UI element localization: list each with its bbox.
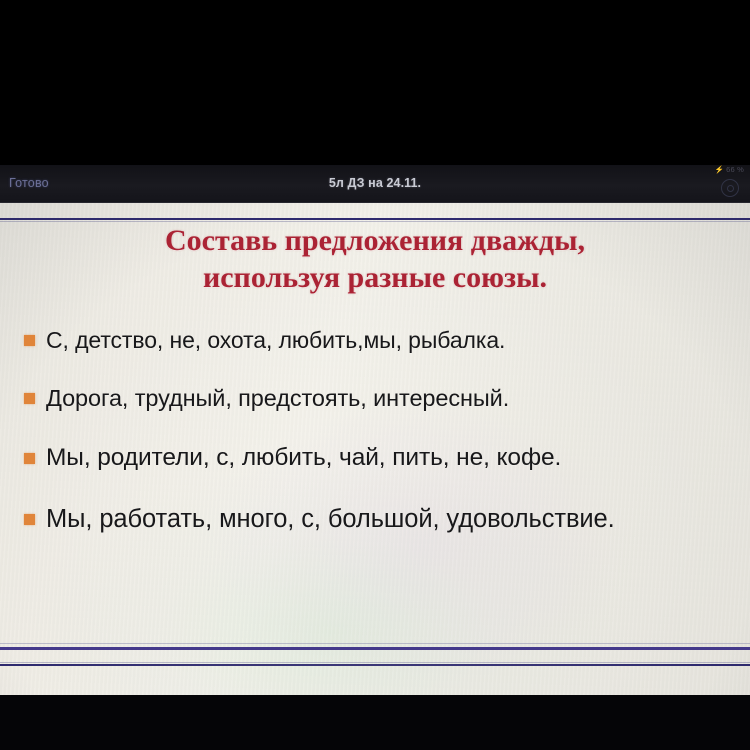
- circle-more-icon[interactable]: [721, 179, 739, 197]
- slide-bottom-hairline: [0, 643, 750, 644]
- slide-bullet-list: С, детство, не, охота, любить,мы, рыбалк…: [24, 325, 740, 562]
- slide-title: Составь предложения дважды, используя ра…: [30, 223, 720, 297]
- top-letterbox: [0, 0, 750, 165]
- square-bullet-icon: [24, 514, 35, 525]
- list-item: Мы, родители, с, любить, чай, пить, не, …: [24, 443, 740, 473]
- list-item-label: Дорога, трудный, предстоять, интересный.: [46, 385, 509, 412]
- square-bullet-icon: [24, 335, 35, 346]
- battery-percent-label: 66 %: [726, 165, 744, 174]
- list-item-label: Мы, работать, много, с, большой, удоволь…: [46, 505, 615, 534]
- list-item: С, детство, не, охота, любить,мы, рыбалк…: [24, 325, 740, 355]
- slide-title-line-2: используя разные союзы.: [30, 260, 720, 297]
- square-bullet-icon: [24, 453, 35, 464]
- app-navigation-bar: ⚡66 % Готово 5л ДЗ на 24.11.: [0, 165, 750, 203]
- battery-status: ⚡66 %: [715, 165, 744, 174]
- tablet-photo: ⚡66 % Готово 5л ДЗ на 24.11. Составь пре…: [0, 0, 750, 750]
- list-item-label: Мы, родители, с, любить, чай, пить, не, …: [46, 444, 561, 472]
- circle-more-icon-inner: [727, 185, 734, 192]
- slide-bottom-rule: [0, 647, 750, 650]
- list-item: Дорога, трудный, предстоять, интересный.: [24, 383, 740, 413]
- bolt-icon: ⚡: [715, 165, 725, 174]
- list-item-label: С, детство, не, охота, любить,мы, рыбалк…: [46, 327, 505, 354]
- list-item: Мы, работать, много, с, большой, удоволь…: [24, 504, 740, 534]
- slide-title-line-1: Составь предложения дважды,: [30, 223, 720, 260]
- bottom-letterbox: [0, 695, 750, 750]
- presentation-slide[interactable]: Составь предложения дважды, используя ра…: [0, 203, 750, 695]
- square-bullet-icon: [24, 393, 35, 404]
- document-title: 5л ДЗ на 24.11.: [0, 176, 750, 190]
